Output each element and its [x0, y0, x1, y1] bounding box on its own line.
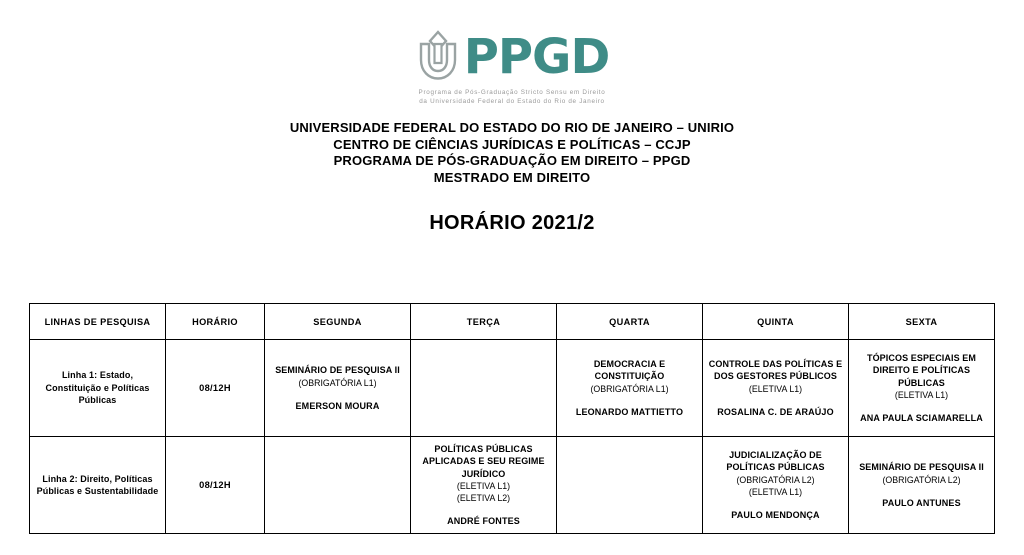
column-header-linhas: LINHAS DE PESQUISA: [30, 304, 166, 340]
table-row: Linha 1: Estado, Constituição e Política…: [30, 340, 995, 437]
table-header-row: LINHAS DE PESQUISA HORÁRIO SEGUNDA TERÇA…: [30, 304, 995, 340]
course-requirement-tag: (ELETIVA L1): [706, 486, 845, 498]
empty-slot-cell-quarta: [557, 437, 703, 534]
research-line-cell: Linha 2: Direito, Políticas Públicas e S…: [30, 437, 166, 534]
logo-subtitle: Programa de Pós-Graduação Stricto Sensu …: [0, 89, 1024, 106]
logo-row: PPGD: [415, 30, 610, 82]
course-name: JUDICIALIZAÇÃO DE POLÍTICAS PÚBLICAS: [706, 449, 845, 473]
course-cell-quinta: JUDICIALIZAÇÃO DE POLÍTICAS PÚBLICAS(OBR…: [703, 437, 849, 534]
course-professor: PAULO MENDONÇA: [706, 509, 845, 521]
course-cell-terca: POLÍTICAS PÚBLICAS APLICADAS E SEU REGIM…: [411, 437, 557, 534]
course-requirement-tag: (ELETIVA L1): [852, 389, 991, 401]
course-professor: PAULO ANTUNES: [852, 497, 991, 509]
heading-line-program: PROGRAMA DE PÓS-GRADUAÇÃO EM DIREITO – P…: [0, 153, 1024, 170]
course-requirement-tag: (OBRIGATÓRIA L1): [560, 383, 699, 395]
course-requirement-tag: (ELETIVA L2): [414, 492, 553, 504]
course-cell-segunda: SEMINÁRIO DE PESQUISA II(OBRIGATÓRIA L1)…: [265, 340, 411, 437]
course-cell-sexta: SEMINÁRIO DE PESQUISA II(OBRIGATÓRIA L2)…: [849, 437, 995, 534]
course-name: TÓPICOS ESPECIAIS EM DIREITO E POLÍTICAS…: [852, 352, 991, 389]
time-slot-cell: 08/12H: [166, 437, 265, 534]
column-header-segunda: SEGUNDA: [265, 304, 411, 340]
course-cell-quinta: CONTROLE DAS POLÍTICAS E DOS GESTORES PÚ…: [703, 340, 849, 437]
institution-heading: UNIVERSIDADE FEDERAL DO ESTADO DO RIO DE…: [0, 120, 1024, 186]
course-requirement-tag: (OBRIGATÓRIA L1): [268, 377, 407, 389]
ppgd-logo: PPGD Programa de Pós-Graduação Stricto S…: [0, 30, 1024, 106]
heading-line-center: CENTRO DE CIÊNCIAS JURÍDICAS E POLÍTICAS…: [0, 137, 1024, 154]
logo-subtitle-line-2: da Universidade Federal do Estado do Rio…: [0, 98, 1024, 107]
course-professor: LEONARDO MATTIETTO: [560, 406, 699, 418]
table-row: Linha 2: Direito, Políticas Públicas e S…: [30, 437, 995, 534]
column-header-quarta: QUARTA: [557, 304, 703, 340]
course-professor: ROSALINA C. DE ARAÚJO: [706, 406, 845, 418]
logo-wordmark: PPGD: [464, 32, 610, 82]
course-name: POLÍTICAS PÚBLICAS APLICADAS E SEU REGIM…: [414, 443, 553, 480]
empty-slot-cell-segunda: [265, 437, 411, 534]
course-professor: ANDRÉ FONTES: [414, 515, 553, 527]
course-professor: ANA PAULA SCIAMARELLA: [852, 412, 991, 424]
heading-line-degree: MESTRADO EM DIREITO: [0, 170, 1024, 187]
column-header-horario: HORÁRIO: [166, 304, 265, 340]
heading-line-university: UNIVERSIDADE FEDERAL DO ESTADO DO RIO DE…: [0, 120, 1024, 137]
schedule-document: PPGD Programa de Pós-Graduação Stricto S…: [0, 0, 1024, 555]
table-header: LINHAS DE PESQUISA HORÁRIO SEGUNDA TERÇA…: [30, 304, 995, 340]
empty-slot-cell-terca: [411, 340, 557, 437]
page-title: HORÁRIO 2021/2: [0, 212, 1024, 235]
column-header-terca: TERÇA: [411, 304, 557, 340]
course-name: SEMINÁRIO DE PESQUISA II: [852, 461, 991, 473]
logo-subtitle-line-1: Programa de Pós-Graduação Stricto Sensu …: [0, 89, 1024, 98]
schedule-table: LINHAS DE PESQUISA HORÁRIO SEGUNDA TERÇA…: [29, 303, 995, 534]
course-cell-sexta: TÓPICOS ESPECIAIS EM DIREITO E POLÍTICAS…: [849, 340, 995, 437]
ppgd-u-mark-icon: [415, 30, 461, 82]
course-name: DEMOCRACIA E CONSTITUIÇÃO: [560, 358, 699, 382]
table-body: Linha 1: Estado, Constituição e Política…: [30, 340, 995, 534]
course-requirement-tag: (OBRIGATÓRIA L2): [706, 474, 845, 486]
research-line-cell: Linha 1: Estado, Constituição e Política…: [30, 340, 166, 437]
course-requirement-tag: (ELETIVA L1): [706, 383, 845, 395]
column-header-sexta: SEXTA: [849, 304, 995, 340]
course-cell-quarta: DEMOCRACIA E CONSTITUIÇÃO(OBRIGATÓRIA L1…: [557, 340, 703, 437]
course-name: SEMINÁRIO DE PESQUISA II: [268, 364, 407, 376]
course-name: CONTROLE DAS POLÍTICAS E DOS GESTORES PÚ…: [706, 358, 845, 382]
column-header-quinta: QUINTA: [703, 304, 849, 340]
course-requirement-tag: (ELETIVA L1): [414, 480, 553, 492]
course-professor: EMERSON MOURA: [268, 400, 407, 412]
time-slot-cell: 08/12H: [166, 340, 265, 437]
course-requirement-tag: (OBRIGATÓRIA L2): [852, 474, 991, 486]
